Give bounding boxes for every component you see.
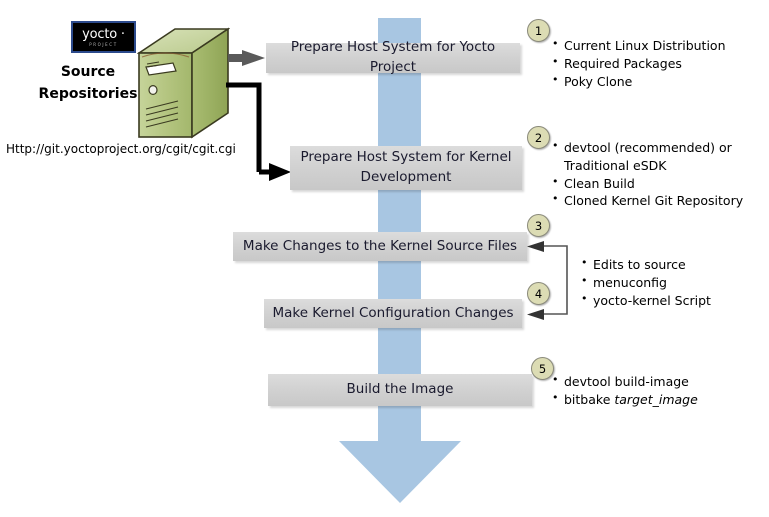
process-box-build-image[interactable]: Build the Image	[268, 374, 532, 406]
logo-subtext: PROJECT	[89, 43, 117, 47]
bullet-item: devtool build-image	[552, 373, 757, 391]
step-number-5: 5	[531, 357, 554, 380]
flow-arrow-head	[339, 441, 461, 503]
diagram-canvas: yocto · PROJECT	[0, 0, 769, 517]
step-number-4: 4	[527, 282, 550, 305]
source-repositories-label: Source Repositories	[34, 62, 142, 105]
step-number-1: 1	[527, 19, 550, 42]
bullet-item: menuconfig	[581, 274, 761, 292]
steps-3-4-shared-bullets: Edits to source menuconfig yocto-kernel …	[581, 256, 761, 309]
process-box-make-source-changes[interactable]: Make Changes to the Kernel Source Files	[233, 232, 527, 261]
bullet-item: Edits to source	[581, 256, 761, 274]
process-box-prepare-host-kernel[interactable]: Prepare Host System for Kernel Developme…	[290, 146, 522, 190]
bullet-item: Clean Build	[552, 175, 764, 193]
source-repositories-url: Http://git.yoctoproject.org/cgit/cgit.cg…	[6, 142, 236, 156]
logo-wordmark: yocto ·	[82, 28, 125, 41]
bullet-item: bitbake target_image	[552, 391, 757, 409]
bullet-item: devtool (recommended) or Traditional eSD…	[552, 139, 764, 175]
step-5-bullets: devtool build-image bitbake target_image	[552, 373, 757, 409]
bullet-item: Cloned Kernel Git Repository	[552, 192, 764, 210]
bitbake-command-prefix: bitbake	[564, 392, 614, 407]
step-1-bullets: Current Linux Distribution Required Pack…	[552, 37, 762, 90]
bullet-item: Poky Clone	[552, 73, 762, 91]
bullet-item: Required Packages	[552, 55, 762, 73]
step-number-3: 3	[527, 214, 550, 237]
bitbake-target-argument: target_image	[614, 392, 697, 407]
server-icon	[137, 27, 230, 139]
process-box-make-config-changes[interactable]: Make Kernel Configuration Changes	[264, 299, 522, 328]
bullet-item: Current Linux Distribution	[552, 37, 762, 55]
bullet-item: yocto-kernel Script	[581, 292, 761, 310]
step-number-2: 2	[527, 126, 550, 149]
step-2-bullets: devtool (recommended) or Traditional eSD…	[552, 139, 764, 210]
yocto-project-logo: yocto · PROJECT	[71, 21, 136, 53]
process-box-prepare-host-yocto[interactable]: Prepare Host System for Yocto Project	[266, 43, 520, 73]
